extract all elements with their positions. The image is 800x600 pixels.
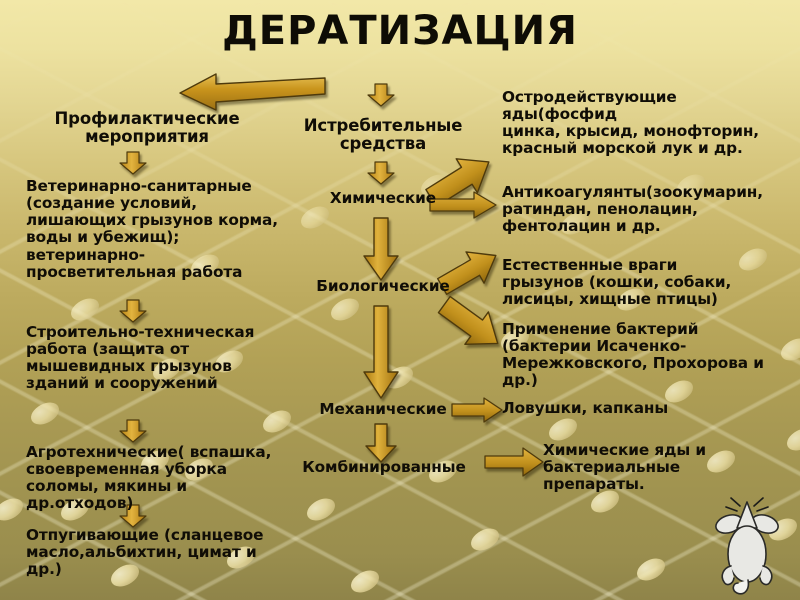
arrow-down-icon <box>366 424 396 462</box>
mouse-icon <box>704 496 790 596</box>
arrow-down-icon <box>120 300 146 322</box>
arrow-left-icon <box>180 72 325 110</box>
arrow-right-icon <box>485 448 543 476</box>
left-item-repellents: Отпугивающие (сланцевое масло,альбихтин,… <box>26 527 298 578</box>
arrow-down-icon <box>368 84 394 106</box>
arrow-down-icon <box>368 162 394 184</box>
middle-column-heading: Истребительные средства <box>288 117 478 154</box>
right-item-anticoagulants: Антикоагулянты(зоокумарин, ратиндан, пен… <box>502 184 796 235</box>
arrow-down-icon <box>364 306 398 398</box>
arrow-down-icon <box>364 218 398 280</box>
right-item-bacteria-usage: Применение бактерий (бактерии Исаченко- … <box>502 321 796 390</box>
right-item-natural-enemies: Естественные враги грызунов (кошки, соба… <box>502 257 792 308</box>
middle-item-biological: Биологические <box>290 278 476 295</box>
left-item-agrotechnical: Агротехнические( вспашка, своевременная … <box>26 444 298 513</box>
right-item-acute-poisons: Остродействующие яды(фосфид цинка, крыси… <box>502 89 794 158</box>
right-item-chem-bact-preparations: Химические яды и бактериальные препараты… <box>543 442 793 493</box>
right-item-traps: Ловушки, капканы <box>502 400 752 417</box>
middle-item-combined: Комбинированные <box>286 459 482 476</box>
left-item-construction-technical: Строительно-техническая работа (защита о… <box>26 324 294 393</box>
middle-item-chemical: Химические <box>296 190 470 207</box>
arrow-down-right-icon <box>436 296 506 352</box>
left-column-heading: Профилактические мероприятия <box>22 110 272 147</box>
slide-canvas: ДЕРАТИЗАЦИЯ <box>0 0 800 600</box>
page-title: ДЕРАТИЗАЦИЯ <box>0 8 800 54</box>
arrow-down-icon <box>120 152 146 174</box>
arrow-down-icon <box>120 420 146 442</box>
left-item-veterinary-sanitary: Ветеринарно-санитарные (создание условий… <box>26 178 294 281</box>
middle-item-mechanical: Механические <box>292 401 474 418</box>
